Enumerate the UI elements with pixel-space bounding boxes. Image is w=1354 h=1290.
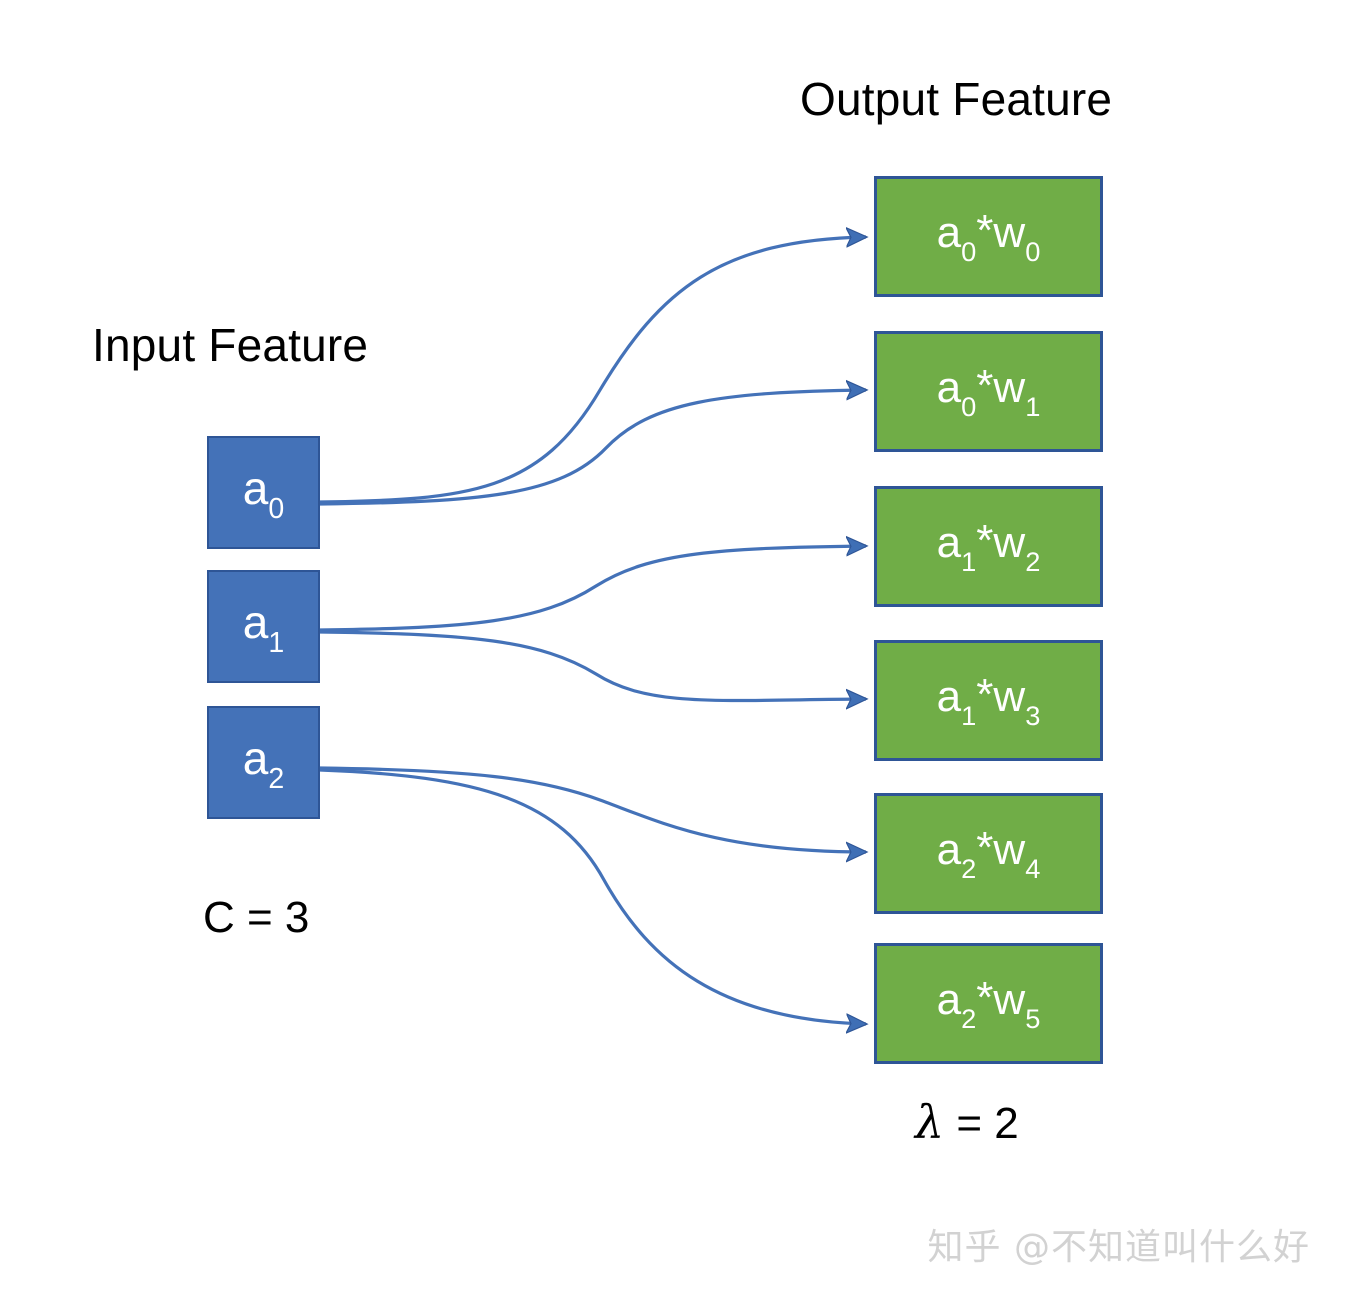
input-box-a0[interactable]: a0	[207, 436, 320, 549]
output-box-a0w1-label: a0*w1	[937, 366, 1041, 416]
output-feature-title: Output Feature	[800, 72, 1112, 126]
lambda-value: = 2	[944, 1099, 1019, 1148]
output-box-a2w4[interactable]: a2*w4	[874, 793, 1103, 914]
channels-caption: C = 3	[203, 893, 309, 943]
lambda-symbol: λ	[915, 1095, 944, 1149]
watermark: 知乎 @不知道叫什么好	[928, 1218, 1310, 1270]
output-box-a1w3-label: a1*w3	[937, 675, 1041, 725]
output-box-a1w3[interactable]: a1*w3	[874, 640, 1103, 761]
output-box-a2w4-label: a2*w4	[937, 828, 1041, 878]
output-box-a0w0-label: a0*w0	[937, 211, 1041, 261]
input-box-a1-label: a1	[243, 599, 284, 654]
output-box-a2w5[interactable]: a2*w5	[874, 943, 1103, 1064]
connector-lines	[0, 0, 1354, 1290]
output-box-a0w0[interactable]: a0*w0	[874, 176, 1103, 297]
input-feature-title: Input Feature	[92, 318, 368, 372]
input-box-a2-label: a2	[243, 735, 284, 790]
output-box-a0w1[interactable]: a0*w1	[874, 331, 1103, 452]
diagram-canvas: Input Feature Output Feature a0 a1	[0, 0, 1354, 1290]
output-box-a1w2[interactable]: a1*w2	[874, 486, 1103, 607]
input-box-a2[interactable]: a2	[207, 706, 320, 819]
output-box-a1w2-label: a1*w2	[937, 521, 1041, 571]
lambda-caption: λ = 2	[915, 1095, 1019, 1149]
input-box-a0-label: a0	[243, 465, 284, 520]
input-box-a1[interactable]: a1	[207, 570, 320, 683]
output-box-a2w5-label: a2*w5	[937, 978, 1041, 1028]
